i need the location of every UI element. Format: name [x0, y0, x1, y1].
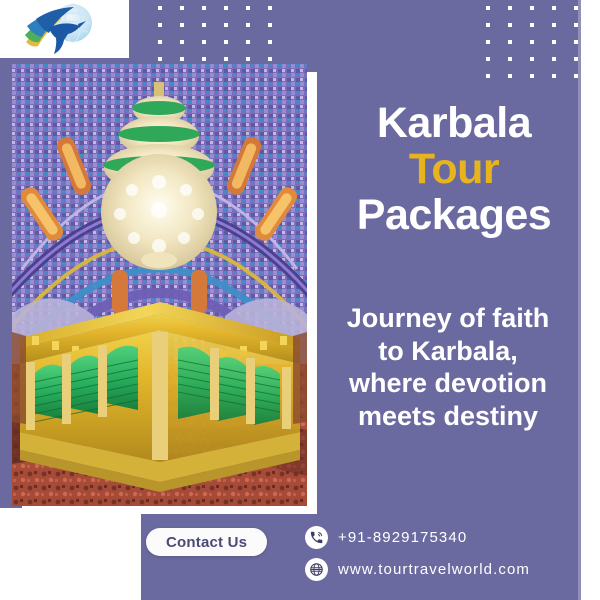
decorative-dot: [486, 23, 490, 27]
decorative-dot: [246, 6, 250, 10]
decorative-dot: [224, 6, 228, 10]
decorative-dot: [158, 40, 162, 44]
decorative-dot: [574, 40, 578, 44]
decorative-dot: [268, 57, 272, 61]
karbala-shrine-photo: [12, 64, 307, 506]
decorative-dot: [530, 40, 534, 44]
subtitle-line-3: where devotion: [312, 367, 584, 400]
phone-icon: [305, 526, 328, 549]
decorative-dot: [486, 40, 490, 44]
decorative-dot: [202, 23, 206, 27]
decorative-dot: [552, 74, 556, 78]
right-white-strip: [581, 0, 600, 600]
headline-line-3: Packages: [332, 192, 576, 238]
subtitle-block: Journey of faith to Karbala, where devot…: [312, 302, 584, 433]
headline-line-1: Karbala: [332, 100, 576, 146]
decorative-dot: [508, 40, 512, 44]
decorative-dot: [158, 23, 162, 27]
decorative-dot: [202, 40, 206, 44]
decorative-dot: [508, 6, 512, 10]
decorative-dot: [246, 57, 250, 61]
contact-info-group: +91-8929175340 www.tourtravelworld.com: [305, 526, 530, 590]
decorative-dot: [574, 57, 578, 61]
decorative-dot: [574, 23, 578, 27]
decorative-dot: [508, 57, 512, 61]
decorative-dot: [158, 6, 162, 10]
subtitle-line-2: to Karbala,: [312, 335, 584, 368]
decorative-dot: [508, 74, 512, 78]
tourtravelworld-logo[interactable]: [16, 2, 106, 56]
decorative-dot: [180, 23, 184, 27]
decorative-dot: [246, 23, 250, 27]
decorative-dot: [486, 6, 490, 10]
phone-number-text: +91-8929175340: [338, 529, 467, 546]
subtitle-line-1: Journey of faith: [312, 302, 584, 335]
decorative-dot: [574, 74, 578, 78]
decorative-dot: [530, 6, 534, 10]
website-url-text: www.tourtravelworld.com: [338, 561, 530, 578]
decorative-dot: [224, 40, 228, 44]
decorative-dot: [552, 57, 556, 61]
decorative-dot: [202, 6, 206, 10]
decorative-dot: [574, 6, 578, 10]
contact-phone-row[interactable]: +91-8929175340: [305, 526, 530, 549]
decorative-dot: [530, 57, 534, 61]
decorative-dot: [224, 23, 228, 27]
decorative-dot: [180, 40, 184, 44]
subtitle-line-4: meets destiny: [312, 400, 584, 433]
decorative-dot: [268, 6, 272, 10]
bottom-left-white-block: [0, 508, 141, 600]
decorative-dot: [508, 23, 512, 27]
headline-block: Karbala Tour Packages: [332, 100, 576, 238]
decorative-dot: [224, 57, 228, 61]
decorative-dot: [268, 23, 272, 27]
decorative-dot: [552, 23, 556, 27]
decorative-dot: [158, 57, 162, 61]
decorative-dot: [530, 74, 534, 78]
poster-canvas: Karbala Tour Packages Journey of faith t…: [0, 0, 600, 600]
globe-icon: [305, 558, 328, 581]
headline-line-2: Tour: [332, 146, 576, 192]
decorative-dot: [552, 6, 556, 10]
decorative-dot: [530, 23, 534, 27]
decorative-dot: [268, 40, 272, 44]
contact-website-row[interactable]: www.tourtravelworld.com: [305, 558, 530, 581]
decorative-dot: [180, 6, 184, 10]
golden-shrine: [20, 302, 300, 492]
decorative-dot: [202, 57, 206, 61]
decorative-dot: [486, 57, 490, 61]
decorative-dot: [552, 40, 556, 44]
decorative-dot: [180, 57, 184, 61]
decorative-dot: [246, 40, 250, 44]
decorative-dot: [486, 74, 490, 78]
contact-us-button[interactable]: Contact Us: [146, 528, 267, 556]
